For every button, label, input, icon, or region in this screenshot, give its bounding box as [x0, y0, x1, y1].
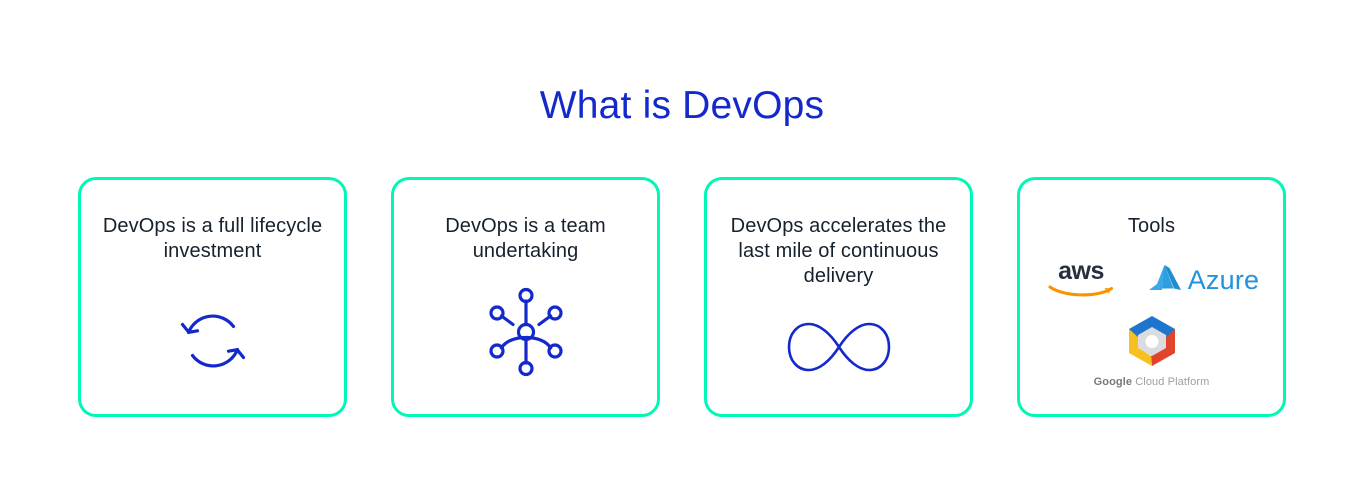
- gcp-wordmark-google: Google: [1094, 376, 1133, 388]
- card-tools-label: Tools: [1039, 214, 1265, 239]
- infinity-icon: [707, 318, 970, 376]
- google-cloud-platform-logo[interactable]: Google Cloud Platform: [1094, 315, 1210, 388]
- card-team-label: DevOps is a team undertaking: [413, 214, 639, 264]
- logo-row-top: aws: [1044, 258, 1260, 303]
- card-lifecycle-label: DevOps is a full lifecycle investment: [100, 214, 326, 264]
- card-team[interactable]: DevOps is a team undertaking: [391, 177, 660, 417]
- cycle-arrows-icon: [81, 302, 344, 380]
- azure-mark-icon: [1148, 263, 1182, 298]
- azure-wordmark: Azure: [1188, 267, 1260, 294]
- aws-logo[interactable]: aws: [1044, 258, 1118, 303]
- gcp-hexagon-icon: [1124, 315, 1180, 372]
- svg-text:aws: aws: [1058, 258, 1104, 285]
- card-lifecycle[interactable]: DevOps is a full lifecycle investment: [78, 177, 347, 417]
- gcp-wordmark-rest: Cloud Platform: [1132, 376, 1209, 388]
- gcp-wordmark: Google Cloud Platform: [1094, 376, 1210, 388]
- card-row: DevOps is a full lifecycle investment De…: [78, 177, 1286, 417]
- card-delivery-label: DevOps accelerates the last mile of cont…: [726, 214, 952, 289]
- page-title: What is DevOps: [0, 82, 1364, 130]
- devops-infographic: What is DevOps DevOps is a full lifecycl…: [0, 0, 1364, 504]
- azure-logo[interactable]: Azure: [1148, 263, 1260, 298]
- card-delivery[interactable]: DevOps accelerates the last mile of cont…: [704, 177, 973, 417]
- card-tools[interactable]: Tools aws: [1017, 177, 1286, 417]
- tools-logo-group: aws: [1020, 258, 1283, 388]
- network-hub-icon: [394, 284, 657, 380]
